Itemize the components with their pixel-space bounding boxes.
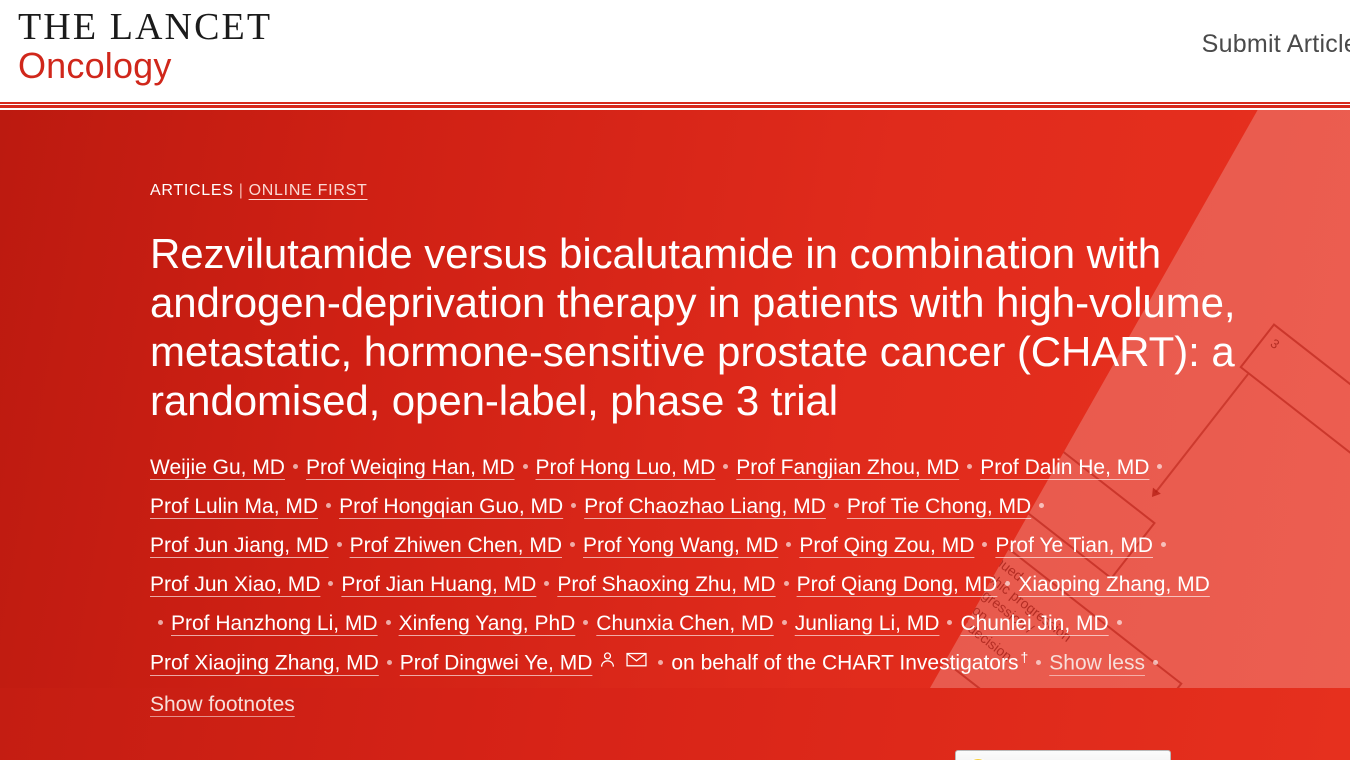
- header-nav: Submit Article: [1202, 30, 1350, 59]
- author-separator-dot: [387, 660, 392, 665]
- kicker-section-label[interactable]: ARTICLES: [150, 182, 234, 199]
- author-separator-dot: [784, 581, 789, 586]
- person-icon[interactable]: [598, 643, 617, 682]
- author-separator-dot: [1036, 660, 1041, 665]
- author-link[interactable]: Prof Qing Zou, MD: [799, 534, 974, 557]
- author-separator-dot: [723, 464, 728, 469]
- author-separator-dot: [337, 542, 342, 547]
- group-credit-text: on behalf of the CHART Investigators: [671, 652, 1018, 675]
- header-divider-rule: [0, 101, 1350, 110]
- author-link[interactable]: Prof Jun Jiang, MD: [150, 534, 329, 557]
- author-separator-dot: [523, 464, 528, 469]
- author-separator-dot: [328, 581, 333, 586]
- author-separator-dot: [158, 620, 163, 625]
- author-link[interactable]: Weijie Gu, MD: [150, 456, 285, 479]
- author-link[interactable]: Prof Qiang Dong, MD: [797, 573, 998, 596]
- envelope-icon[interactable]: [626, 643, 647, 682]
- site-logo[interactable]: THE LANCET Oncology: [18, 8, 272, 84]
- author-link[interactable]: Prof Ye Tian, MD: [995, 534, 1153, 557]
- site-header: THE LANCET Oncology Submit Article: [0, 0, 1350, 110]
- author-link[interactable]: Chunxia Chen, MD: [596, 612, 773, 635]
- author-separator-dot: [834, 503, 839, 508]
- author-link[interactable]: Prof Zhiwen Chen, MD: [350, 534, 562, 557]
- author-link[interactable]: Prof Shaoxing Zhu, MD: [557, 573, 775, 596]
- author-link[interactable]: Prof Jun Xiao, MD: [150, 573, 320, 596]
- author-link[interactable]: Prof Weiqing Han, MD: [306, 456, 515, 479]
- author-link[interactable]: Prof Tie Chong, MD: [847, 495, 1031, 518]
- author-link[interactable]: Xiaoping Zhang, MD: [1018, 573, 1209, 596]
- author-separator-dot: [1117, 620, 1122, 625]
- author-separator-dot: [1157, 464, 1162, 469]
- author-separator-dot: [570, 542, 575, 547]
- article-meta-line: Published: September 05, 2022DOI: https:…: [150, 750, 1350, 760]
- author-list: Weijie Gu, MDProf Weiqing Han, MDProf Ho…: [150, 448, 1210, 724]
- author-separator-dot: [1005, 581, 1010, 586]
- author-separator-dot: [967, 464, 972, 469]
- submit-article-link[interactable]: Submit Article: [1202, 30, 1350, 58]
- author-separator-dot: [571, 503, 576, 508]
- logo-oncology-text: Oncology: [18, 48, 272, 84]
- show-less-link[interactable]: Show less: [1049, 652, 1145, 675]
- author-separator-dot: [1153, 660, 1158, 665]
- kicker-online-first-link[interactable]: ONLINE FIRST: [249, 182, 368, 199]
- author-separator-dot: [326, 503, 331, 508]
- author-link[interactable]: Prof Hanzhong Li, MD: [171, 612, 378, 635]
- article-title: Rezvilutamide versus bicalutamide in com…: [150, 230, 1260, 426]
- author-link[interactable]: Prof Fangjian Zhou, MD: [736, 456, 959, 479]
- author-link[interactable]: Chunlei Jin, MD: [960, 612, 1108, 635]
- author-separator-dot: [982, 542, 987, 547]
- author-link[interactable]: Prof Dalin He, MD: [980, 456, 1149, 479]
- author-separator-dot: [786, 542, 791, 547]
- author-link[interactable]: Prof Chaozhao Liang, MD: [584, 495, 826, 518]
- author-link[interactable]: Prof Jian Huang, MD: [341, 573, 536, 596]
- author-separator-dot: [782, 620, 787, 625]
- author-separator-dot: [947, 620, 952, 625]
- show-footnotes-link[interactable]: Show footnotes: [150, 693, 295, 716]
- author-separator-dot: [583, 620, 588, 625]
- author-link[interactable]: Prof Yong Wang, MD: [583, 534, 778, 557]
- author-link[interactable]: Xinfeng Yang, PhD: [399, 612, 576, 635]
- author-link[interactable]: Prof Hong Luo, MD: [536, 456, 716, 479]
- author-link[interactable]: Prof Xiaojing Zhang, MD: [150, 652, 379, 675]
- author-link[interactable]: Junliang Li, MD: [795, 612, 940, 635]
- author-separator-dot: [386, 620, 391, 625]
- author-separator-dot: [544, 581, 549, 586]
- kicker-separator: |: [239, 182, 244, 199]
- author-separator-dot: [293, 464, 298, 469]
- article-kicker: ARTICLES|ONLINE FIRST: [150, 182, 1350, 200]
- author-link[interactable]: Prof Lulin Ma, MD: [150, 495, 318, 518]
- crossmark-check-for-updates-button[interactable]: Check for updates: [955, 750, 1170, 760]
- author-separator-dot: [1161, 542, 1166, 547]
- author-separator-dot: [1039, 503, 1044, 508]
- logo-the-lancet-text: THE LANCET: [18, 8, 272, 46]
- author-separator-dot: [658, 660, 663, 665]
- author-link[interactable]: Prof Hongqian Guo, MD: [339, 495, 563, 518]
- group-credit-dagger: †: [1020, 649, 1028, 665]
- author-link-corresponding[interactable]: Prof Dingwei Ye, MD: [400, 652, 593, 675]
- article-hero-banner: 3 218 ongoing at interimprogression-free…: [0, 110, 1350, 760]
- hero-content: ARTICLES|ONLINE FIRST Rezvilutamide vers…: [0, 110, 1350, 760]
